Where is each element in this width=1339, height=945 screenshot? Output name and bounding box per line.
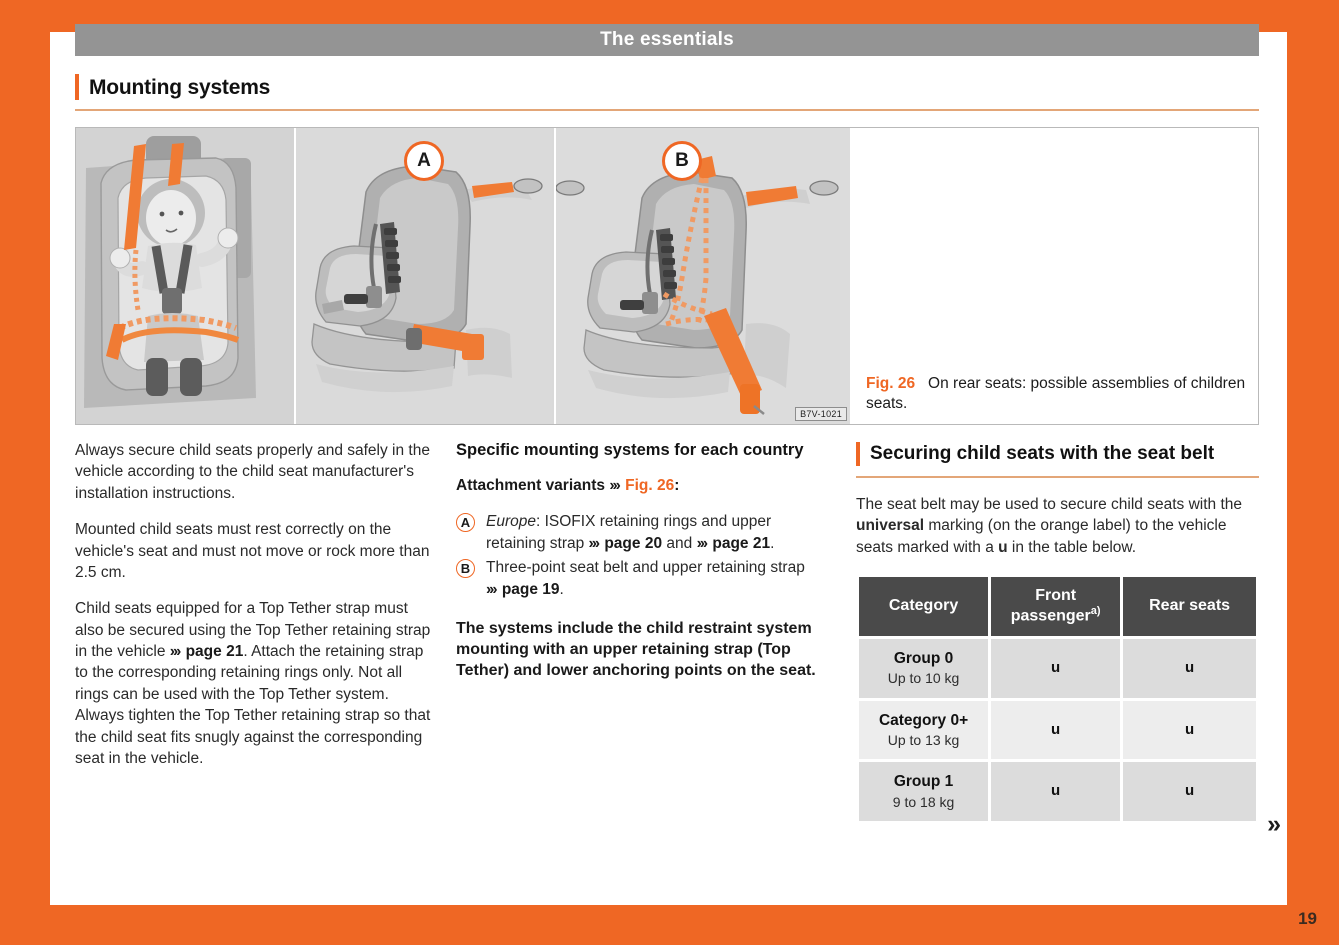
paragraph-mounted-child-seats: Mounted child seats must rest correctly … bbox=[75, 519, 434, 583]
page-content: Mounting systems bbox=[75, 72, 1259, 824]
category-name: Group 1 bbox=[863, 771, 984, 792]
attachment-variants-list: A Europe: ISOFIX retaining rings and upp… bbox=[456, 511, 834, 600]
table-row: Category 0+ Up to 13 kg u u bbox=[859, 701, 1256, 760]
seat-belt-bold-u: u bbox=[998, 539, 1007, 556]
cell-front-passenger: u bbox=[991, 701, 1120, 760]
cross-reference-page-21b[interactable]: ››› page 21 bbox=[697, 535, 771, 552]
paragraph-seat-belt-universal: The seat belt may be used to secure chil… bbox=[856, 494, 1259, 558]
category-weight: Up to 13 kg bbox=[863, 731, 984, 750]
chevron-right-icon: ››› bbox=[589, 535, 601, 552]
category-weight: Up to 10 kg bbox=[863, 669, 984, 688]
category-weight: 9 to 18 kg bbox=[863, 793, 984, 812]
column-left: Always secure child seats properly and s… bbox=[75, 440, 456, 824]
figure-caption-area: Fig. 26 On rear seats: possible assembli… bbox=[850, 128, 1258, 424]
child-in-car-seat-drawing bbox=[76, 128, 294, 424]
seatbelt-child-seat-drawing bbox=[556, 128, 849, 424]
running-header-title: The essentials bbox=[600, 29, 734, 51]
chevron-right-icon: ››› bbox=[170, 643, 182, 660]
cross-reference-page-20[interactable]: ››› page 20 bbox=[589, 535, 663, 552]
variant-a-text-3: . bbox=[770, 535, 774, 552]
cross-reference-page-19-label: page 19 bbox=[502, 581, 560, 598]
subsection-title: Securing child seats with the seat belt bbox=[870, 442, 1259, 466]
marker-b-icon: B bbox=[456, 559, 475, 578]
body-columns: Always secure child seats properly and s… bbox=[75, 440, 1259, 824]
category-name: Group 0 bbox=[863, 648, 984, 669]
subsection-heading: Securing child seats with the seat belt bbox=[856, 440, 1259, 478]
chevron-right-icon: ››› bbox=[486, 581, 498, 598]
figure-badge-a: A bbox=[404, 141, 444, 181]
cell-category: Category 0+ Up to 13 kg bbox=[859, 701, 988, 760]
variant-b-text-1: Three-point seat belt and upper retainin… bbox=[486, 559, 805, 576]
seat-belt-bold-universal: universal bbox=[856, 517, 924, 534]
cross-reference-page-20-label: page 20 bbox=[604, 535, 662, 552]
child-seat-category-table: Category Front passengera) Rear seats Gr… bbox=[856, 574, 1259, 824]
attachment-variants-colon: : bbox=[674, 477, 679, 494]
chevron-right-icon: ››› bbox=[609, 477, 621, 494]
seat-belt-text-1: The seat belt may be used to secure chil… bbox=[856, 496, 1242, 513]
table-row: Group 0 Up to 10 kg u u bbox=[859, 639, 1256, 698]
continued-arrow-icon: » bbox=[1267, 812, 1281, 837]
illustration-panel-variant-b bbox=[554, 128, 850, 424]
figure-illustration: A B B7V-1021 bbox=[76, 128, 850, 424]
column-header-rear-seats: Rear seats bbox=[1123, 577, 1256, 636]
column-header-category: Category bbox=[859, 577, 988, 636]
page-title: Mounting systems bbox=[89, 76, 1259, 100]
figure-caption: Fig. 26 On rear seats: possible assembli… bbox=[866, 374, 1246, 414]
figure-block: A B B7V-1021 Fig. 26 On rear seats: poss… bbox=[75, 127, 1259, 425]
running-header: The essentials bbox=[75, 24, 1259, 56]
attachment-variants-lead: Attachment variants bbox=[456, 477, 609, 494]
cell-front-passenger: u bbox=[991, 762, 1120, 821]
variant-a-text-2: and bbox=[662, 535, 696, 552]
column-right: Securing child seats with the seat belt … bbox=[856, 440, 1259, 824]
attachment-variants-line: Attachment variants ››› Fig. 26: bbox=[456, 475, 834, 496]
cross-reference-fig-26[interactable]: Fig. 26 bbox=[625, 477, 674, 494]
page-number: 19 bbox=[1298, 909, 1317, 929]
cross-reference-page-21-label: page 21 bbox=[186, 643, 244, 660]
chevron-right-icon: ››› bbox=[697, 535, 709, 552]
column-header-front-passenger: Front passengera) bbox=[991, 577, 1120, 636]
cross-reference-page-21[interactable]: ››› page 21 bbox=[170, 643, 244, 660]
column-middle: Specific mounting systems for each count… bbox=[456, 440, 856, 824]
cell-category: Group 1 9 to 18 kg bbox=[859, 762, 988, 821]
variant-b-text-3: . bbox=[560, 581, 564, 598]
table-row: Group 1 9 to 18 kg u u bbox=[859, 762, 1256, 821]
subheading-specific-mounting: Specific mounting systems for each count… bbox=[456, 440, 834, 461]
marker-a-icon: A bbox=[456, 513, 475, 532]
column-header-front-passenger-label: Front passenger bbox=[1011, 587, 1091, 625]
list-item: A Europe: ISOFIX retaining rings and upp… bbox=[456, 511, 834, 554]
illustration-panel-child-in-seat bbox=[76, 128, 294, 424]
paragraph-secure-child-seats: Always secure child seats properly and s… bbox=[75, 440, 434, 504]
cross-reference-page-21b-label: page 21 bbox=[712, 535, 770, 552]
cell-front-passenger: u bbox=[991, 639, 1120, 698]
paragraph-systems-include: The systems include the child restraint … bbox=[456, 618, 834, 681]
seat-belt-text-3: in the table below. bbox=[1008, 539, 1136, 556]
figure-caption-label: Fig. 26 bbox=[866, 375, 915, 392]
footnote-marker-a: a) bbox=[1091, 605, 1101, 617]
section-heading: Mounting systems bbox=[75, 72, 1259, 111]
cell-category: Group 0 Up to 10 kg bbox=[859, 639, 988, 698]
category-name: Category 0+ bbox=[863, 710, 984, 731]
table-header-row: Category Front passengera) Rear seats bbox=[859, 577, 1256, 636]
cross-reference-page-19[interactable]: ››› page 19 bbox=[486, 581, 560, 598]
cell-rear-seats: u bbox=[1123, 639, 1256, 698]
cell-rear-seats: u bbox=[1123, 701, 1256, 760]
illustration-code: B7V-1021 bbox=[795, 407, 847, 421]
paragraph-top-tether-text-2: . Attach the retaining strap to the corr… bbox=[75, 643, 430, 767]
cell-rear-seats: u bbox=[1123, 762, 1256, 821]
variant-a-lead: Europe bbox=[486, 513, 536, 530]
list-item: B Three-point seat belt and upper retain… bbox=[456, 557, 834, 600]
paragraph-top-tether: Child seats equipped for a Top Tether st… bbox=[75, 598, 434, 769]
figure-badge-b: B bbox=[662, 141, 702, 181]
